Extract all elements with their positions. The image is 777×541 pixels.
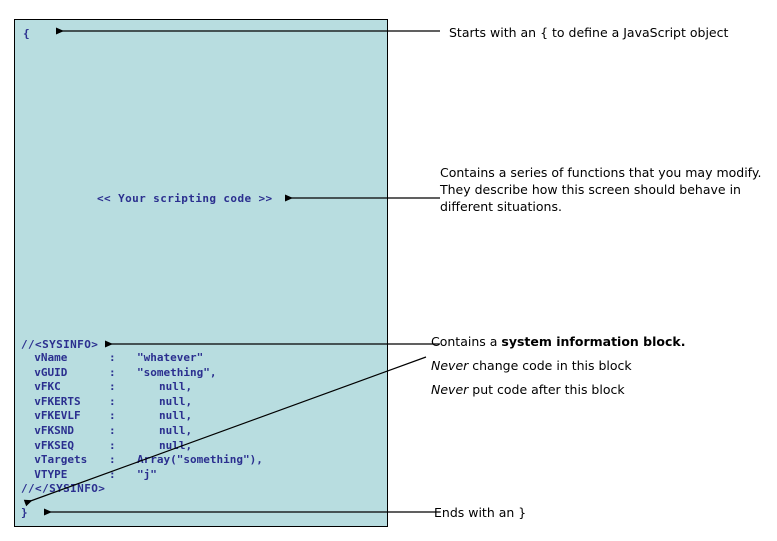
sysinfo-field-key: vFKSND <box>21 424 109 439</box>
annotation-scripting: Contains a series of functions that you … <box>440 164 770 215</box>
sysinfo-field-value: Array("something"), <box>137 453 263 468</box>
annotation-sysinfo-never-change: Never change code in this block <box>431 357 771 374</box>
sysinfo-field-key: vTargets <box>21 453 109 468</box>
sysinfo-field-value: "j" <box>137 468 157 483</box>
annotation-open-brace: Starts with an { to define a JavaScript … <box>449 24 774 41</box>
sysinfo-field-row: vFKSND:null, <box>21 424 263 439</box>
annotation-never-1-emphasis: Never <box>431 358 468 373</box>
sysinfo-field-row: vTargets:Array("something"), <box>21 453 263 468</box>
code-sysinfo-close-tag: //</SYSINFO> <box>21 483 105 495</box>
sysinfo-field-colon: : <box>109 439 137 454</box>
sysinfo-field-key: vFKC <box>21 380 109 395</box>
code-sysinfo-fields: vName:"whatever" vGUID:"something", vFKC… <box>21 351 263 482</box>
sysinfo-field-value: "whatever" <box>137 351 203 366</box>
sysinfo-field-value: null, <box>137 439 192 454</box>
sysinfo-field-value: "something", <box>137 366 216 381</box>
sysinfo-field-row: vFKSEQ:null, <box>21 439 263 454</box>
sysinfo-field-row: vFKERTS:null, <box>21 395 263 410</box>
sysinfo-field-key: vGUID <box>21 366 109 381</box>
sysinfo-field-row: vName:"whatever" <box>21 351 263 366</box>
sysinfo-field-colon: : <box>109 424 137 439</box>
sysinfo-field-value: null, <box>137 424 192 439</box>
sysinfo-field-key: VTYPE <box>21 468 109 483</box>
annotation-never-2-rest: put code after this block <box>468 382 624 397</box>
sysinfo-field-value: null, <box>137 380 192 395</box>
sysinfo-field-colon: : <box>109 380 137 395</box>
sysinfo-field-colon: : <box>109 409 137 424</box>
sysinfo-field-key: vFKERTS <box>21 395 109 410</box>
diagram-canvas: { << Your scripting code >> //<SYSINFO> … <box>0 0 777 541</box>
code-scripting-placeholder: << Your scripting code >> <box>97 193 273 205</box>
sysinfo-field-row: vFKEVLF:null, <box>21 409 263 424</box>
code-open-brace: { <box>23 28 30 40</box>
annotation-sysinfo-lead: Contains a <box>431 334 501 349</box>
code-sysinfo-open-tag: //<SYSINFO> <box>21 339 98 351</box>
sysinfo-field-key: vName <box>21 351 109 366</box>
annotation-sysinfo: Contains a system information block. Nev… <box>431 333 771 398</box>
sysinfo-field-key: vFKEVLF <box>21 409 109 424</box>
sysinfo-field-row: vGUID:"something", <box>21 366 263 381</box>
code-close-brace: } <box>21 507 28 519</box>
sysinfo-field-value: null, <box>137 395 192 410</box>
annotation-never-2-emphasis: Never <box>431 382 468 397</box>
annotation-sysinfo-title: Contains a system information block. <box>431 333 771 350</box>
sysinfo-field-colon: : <box>109 351 137 366</box>
sysinfo-field-colon: : <box>109 453 137 468</box>
sysinfo-field-row: VTYPE:"j" <box>21 468 263 483</box>
sysinfo-field-colon: : <box>109 395 137 410</box>
annotation-sysinfo-bold: system information block. <box>501 334 685 349</box>
annotation-never-1-rest: change code in this block <box>468 358 631 373</box>
code-panel: { << Your scripting code >> //<SYSINFO> … <box>14 19 388 527</box>
sysinfo-field-colon: : <box>109 468 137 483</box>
sysinfo-field-row: vFKC:null, <box>21 380 263 395</box>
sysinfo-field-key: vFKSEQ <box>21 439 109 454</box>
annotation-close-brace: Ends with an } <box>434 504 684 521</box>
sysinfo-field-value: null, <box>137 409 192 424</box>
annotation-sysinfo-never-after: Never put code after this block <box>431 381 771 398</box>
sysinfo-field-colon: : <box>109 366 137 381</box>
